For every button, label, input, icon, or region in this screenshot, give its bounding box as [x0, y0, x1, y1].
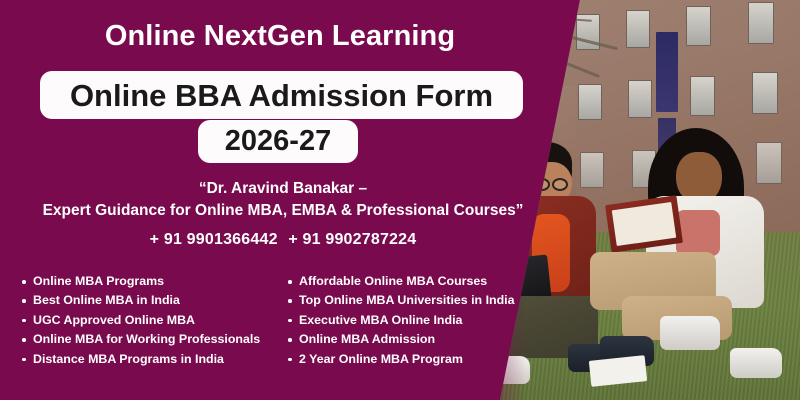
headline-line1: Online BBA Admission Form [70, 80, 493, 111]
keyword-list-right: Affordable Online MBA Courses Top Online… [288, 272, 514, 369]
list-item: UGC Approved Online MBA [22, 311, 260, 330]
headline-form-box: Online BBA Admission Form [40, 71, 523, 119]
list-item: Executive MBA Online India [288, 311, 514, 330]
list-item: Affordable Online MBA Courses [288, 272, 514, 291]
list-item: Top Online MBA Universities in India [288, 291, 514, 310]
contact-phone-numbers: + 91 9901366442 + 91 9902787224 [0, 231, 566, 249]
headline-line2: 2026-27 [225, 127, 331, 156]
brand-title: Online NextGen Learning [0, 20, 560, 53]
banner-content: Online NextGen Learning Online BBA Admis… [0, 0, 800, 400]
list-item: Best Online MBA in India [22, 291, 260, 310]
list-item: 2 Year Online MBA Program [288, 350, 514, 369]
list-item: Online MBA for Working Professionals [22, 330, 260, 349]
list-item: Online MBA Admission [288, 330, 514, 349]
keyword-list-left: Online MBA Programs Best Online MBA in I… [22, 272, 260, 369]
promo-banner: Online NextGen Learning Online BBA Admis… [0, 0, 800, 400]
quote-line-1: “Dr. Aravind Banakar – [0, 178, 566, 200]
list-item: Online MBA Programs [22, 272, 260, 291]
quote-line-2: Expert Guidance for Online MBA, EMBA & P… [0, 200, 566, 222]
expert-quote: “Dr. Aravind Banakar – Expert Guidance f… [0, 178, 566, 223]
headline-year-box: 2026-27 [198, 120, 358, 163]
phone-number-2[interactable]: + 91 9902787224 [288, 231, 416, 248]
list-item: Distance MBA Programs in India [22, 350, 260, 369]
phone-number-1[interactable]: + 91 9901366442 [150, 231, 278, 248]
